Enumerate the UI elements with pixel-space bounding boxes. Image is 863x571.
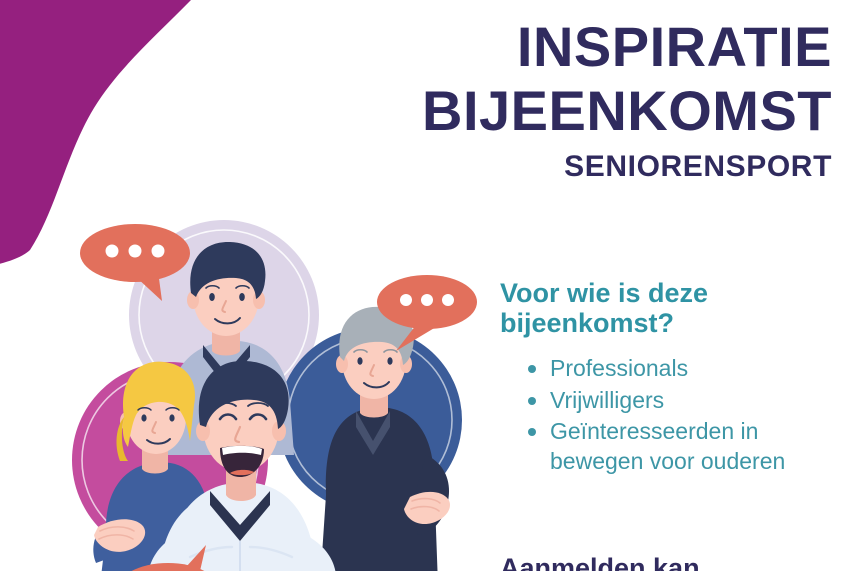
bubble-dot — [106, 245, 119, 258]
headline-block: INSPIRATIE BIJEENKOMST SENIORENSPORT — [272, 18, 832, 184]
info-block: Voor wie is deze bijeenkomst? Profession… — [500, 278, 850, 478]
info-heading: Voor wie is deze bijeenkomst? — [500, 278, 850, 338]
bubble-dot — [400, 294, 412, 306]
registration-heading: Aanmelden kan — [500, 553, 700, 571]
list-item: Geïnteresseerden in bewegen voor ouderen — [522, 417, 850, 476]
audience-list: Professionals Vrijwilligers Geïnteressee… — [500, 354, 850, 476]
list-item: Professionals — [522, 354, 850, 383]
poster-title-line-1: INSPIRATIE — [272, 18, 832, 76]
list-item: Vrijwilligers — [522, 386, 850, 415]
bubble-dot — [442, 294, 454, 306]
poster-subtitle: SENIORENSPORT — [272, 150, 832, 184]
people-illustration — [40, 205, 510, 571]
poster-title-line-2: BIJEENKOMST — [272, 82, 832, 140]
bubble-dot — [129, 245, 142, 258]
poster-root: INSPIRATIE BIJEENKOMST SENIORENSPORT Voo… — [0, 0, 863, 571]
bubble-dot — [152, 245, 165, 258]
bubble-dot — [421, 294, 433, 306]
